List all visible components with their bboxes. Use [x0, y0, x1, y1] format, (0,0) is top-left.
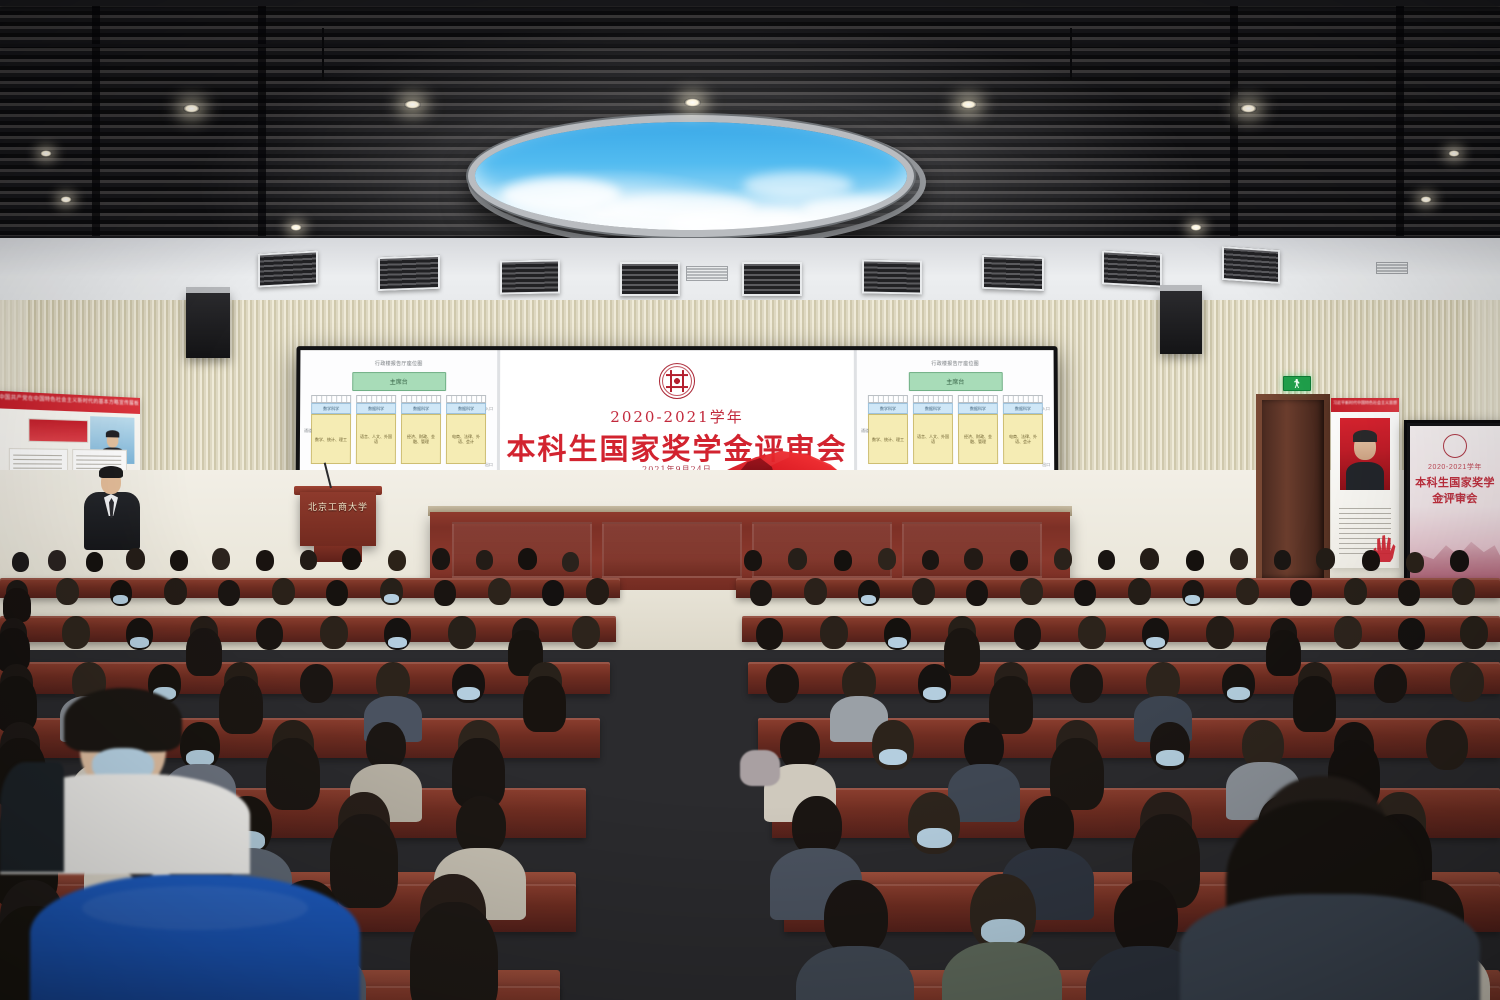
hvac-vent [982, 255, 1044, 291]
side-screen-year: 2020-2021学年 [1410, 462, 1500, 472]
chart-title: 行政楼报告厅座位图 [310, 360, 487, 367]
ceiling-downlight [1420, 196, 1432, 203]
ceiling-downlight [1240, 104, 1257, 113]
seat-block: 数据科学 语言、人文、外国语 [356, 395, 396, 464]
seat-block: 数学科学 数学、统计、理工 [311, 395, 351, 464]
ceiling-downlight [404, 100, 421, 109]
ceiling-downlight [960, 100, 977, 109]
hvac-vent [1102, 250, 1162, 287]
chart-side-label: 入口 [485, 406, 493, 412]
stage-label: 主席台 [908, 372, 1002, 391]
hvac-vent [378, 255, 440, 291]
chart-title: 行政楼报告厅座位图 [867, 360, 1044, 367]
university-emblem-icon [1443, 434, 1467, 458]
ceiling-downlight [684, 98, 701, 107]
audience-area [0, 500, 1500, 1000]
sky-ceiling-panel [475, 122, 907, 230]
emergency-exit-sign [1283, 376, 1311, 391]
wall-speaker [1160, 290, 1202, 354]
seat-block: 数据科学 经济、财政、金融、管理 [401, 395, 441, 464]
chart-side-label: 通道 [861, 428, 869, 434]
air-diffuser [1376, 262, 1408, 274]
hvac-vent [500, 259, 560, 294]
hvac-vent [258, 250, 318, 287]
air-diffuser [686, 266, 728, 281]
ceiling-downlight [60, 196, 72, 203]
chart-side-label: 出口 [485, 462, 493, 468]
running-man-icon [1294, 379, 1300, 388]
backpack [740, 750, 780, 786]
ceiling-downlight [290, 224, 302, 231]
hvac-vent [862, 259, 922, 294]
hvac-vent [620, 262, 680, 296]
hvac-vent [1222, 246, 1280, 284]
stage-label: 主席台 [352, 372, 446, 391]
banner-academic-year: 2020-2021学年 [500, 406, 854, 427]
university-emblem-icon [659, 363, 695, 399]
chart-side-label: 通道 [304, 428, 312, 434]
seat-block: 数据科学 电商、法律、外语、会计 [446, 395, 486, 464]
ceiling-downlight [40, 150, 52, 157]
seat-block: 数据科学 经济、财政、金融、管理 [958, 395, 998, 464]
seat-block: 数据科学 语言、人文、外国语 [913, 395, 953, 464]
seat-block: 数据科学 电商、法律、外语、会计 [1003, 395, 1043, 464]
ceiling-downlight [1190, 224, 1202, 231]
seat-block: 数学科学 数学、统计、理工 [868, 395, 908, 464]
chart-side-label: 出口 [1042, 462, 1050, 468]
hvac-vent [742, 262, 802, 296]
lecture-hall-photo: 行政楼报告厅座位图 主席台 数学科学 数学、统计、理工 数据科学 语言、人文、外… [0, 0, 1500, 1000]
ceiling-downlight [1448, 150, 1460, 157]
ceiling-downlight [183, 104, 200, 113]
wall-speaker [186, 292, 230, 358]
poster-headline: 习近平新时代中国特色社会主义思想 [1331, 400, 1399, 406]
chart-side-label: 入口 [1042, 406, 1050, 412]
poster-portrait [1340, 418, 1390, 490]
